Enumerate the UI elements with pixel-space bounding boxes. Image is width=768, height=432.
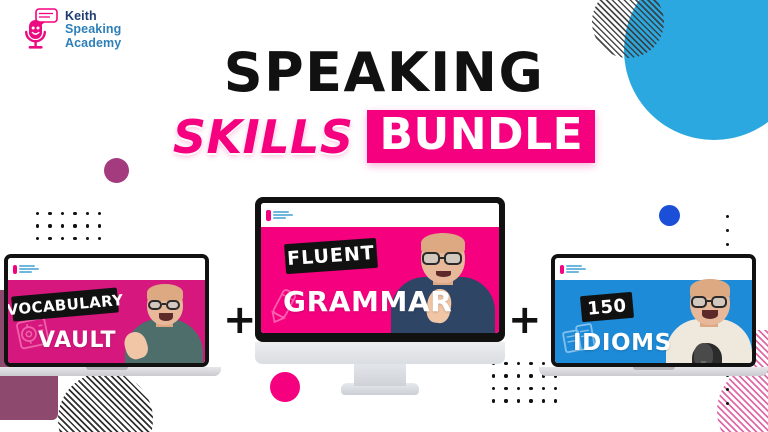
dot-grid-pattern-top-left — [36, 212, 110, 249]
product-card-150-idioms[interactable]: 150 IDIOMS — [551, 254, 756, 385]
monitor-neck — [354, 364, 406, 386]
product-card-vocabulary-vault[interactable]: VOCABULARY VAULT — [4, 254, 209, 385]
logo-line-2: Speaking — [65, 23, 121, 36]
promo-banner: Keith Speaking Academy SPEAKING SKILLS B… — [0, 0, 768, 432]
headline-block: SPEAKING SKILLS BUNDLE — [0, 46, 768, 163]
laptop-notch — [86, 367, 128, 370]
monitor-chin — [255, 342, 505, 364]
screen-vocabulary-vault: VOCABULARY VAULT — [8, 258, 205, 363]
mini-brand-logo-icon — [266, 210, 293, 221]
word-vault: VAULT — [38, 328, 116, 353]
laptop-lid: 150 IDIOMS — [551, 254, 756, 367]
screen-fluent-grammar: FLUENT GRAMMAR — [261, 203, 499, 333]
headline-speaking: SPEAKING — [0, 46, 768, 100]
thumbnail-vocabulary-vault: VOCABULARY VAULT — [8, 280, 205, 363]
instructor-photo — [664, 275, 752, 363]
mini-brand-logo-icon — [560, 265, 586, 274]
laptop-lid: VOCABULARY VAULT — [4, 254, 209, 367]
thumbnail-150-idioms: 150 IDIOMS — [555, 280, 752, 363]
badge-150: 150 — [580, 292, 634, 322]
word-grammar: GRAMMAR — [283, 285, 452, 318]
headline-bundle: BUNDLE — [367, 110, 595, 163]
product-card-fluent-grammar[interactable]: FLUENT GRAMMAR — [255, 197, 505, 393]
badge-fluent: FLUENT — [284, 238, 378, 274]
mini-brand-logo-icon — [13, 265, 39, 274]
blue-dot-shape — [659, 205, 680, 226]
screen-150-idioms: 150 IDIOMS — [555, 258, 752, 363]
instructor-photo — [123, 279, 205, 363]
logo-line-1: Keith — [65, 10, 121, 23]
browser-bar — [8, 258, 205, 280]
headline-skills: SKILLS — [173, 114, 354, 160]
plus-separator-2: + — [508, 300, 542, 340]
laptop-notch — [633, 367, 675, 370]
plus-separator-1: + — [223, 300, 257, 340]
monitor-bezel: FLUENT GRAMMAR — [255, 197, 505, 342]
badge-vocabulary: VOCABULARY — [11, 287, 119, 321]
thumbnail-fluent-grammar: FLUENT GRAMMAR — [261, 227, 499, 333]
word-idioms: IDIOMS — [573, 330, 672, 356]
